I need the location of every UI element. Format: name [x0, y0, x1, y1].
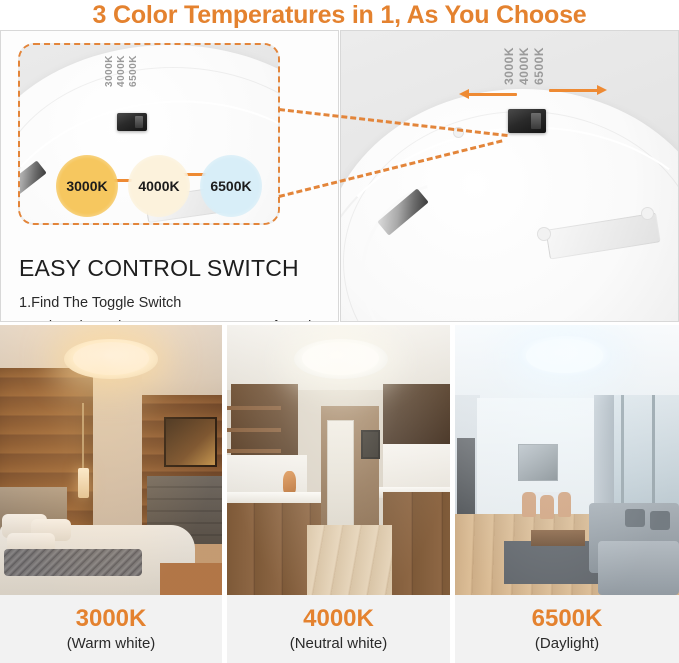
instruction-step-2: 2.Select the Color Temperature you Prefe… [19, 319, 311, 322]
kelvin-value-3000k: 3000K [76, 606, 147, 631]
sofa-cushion-2 [650, 511, 670, 530]
kitchen-island [383, 492, 450, 595]
ceiling-lamp-3000k-diffuser [73, 342, 149, 375]
headline-bar: 3 Color Temperatures in 1, As You Choose [0, 0, 679, 30]
kelvin-description-3000k: (Warm white) [67, 635, 156, 652]
toggle-switch-icon[interactable] [508, 109, 546, 133]
color-temp-circle-6500k: 6500K [200, 155, 262, 217]
color-temp-circle-3000k: 3000K [56, 155, 118, 217]
product-infographic: 3 Color Temperatures in 1, As You Choose [0, 0, 679, 663]
kelvin-labels: 3000K 4000K 6500K [503, 47, 545, 85]
room-photo-bedroom [0, 325, 222, 595]
kelvin-label-3000k: 3000K [503, 47, 515, 85]
bracket-screw-main [537, 227, 551, 241]
window-mullion-2 [652, 395, 655, 519]
window-mullion-1 [621, 395, 624, 519]
bedroom-pendant-shade [78, 468, 89, 498]
living-room-shelving [457, 438, 475, 514]
kitchen-door [327, 420, 354, 530]
dining-chair-1 [522, 492, 535, 516]
room-photo-kitchen [227, 325, 450, 595]
product-switch-panel: 3000K 4000K 6500K [340, 30, 679, 322]
room-scene-6500k: 6500K (Daylight) [455, 325, 679, 663]
kitchen-open-shelf-1 [227, 406, 281, 410]
bedroom-rug [160, 563, 222, 595]
color-temp-circle-6500k-label: 6500K [210, 178, 251, 194]
room-scene-4000k: 4000K (Neutral white) [227, 325, 450, 663]
instruction-step-1: 1.Find The Toggle Switch [19, 295, 181, 311]
living-room-chaise [598, 541, 679, 595]
inset-kelvin-3000k: 3000K [105, 55, 115, 87]
dining-chair-3 [558, 492, 571, 516]
room-scenes-row: 3000K (Warm white) [0, 325, 679, 663]
room-scene-3000k: 3000K (Warm white) [0, 325, 222, 663]
bedroom-throw-blanket [4, 549, 142, 576]
bedroom-pendant-cord [82, 403, 84, 468]
bracket-screw-main-2 [641, 207, 654, 220]
room-photo-living-room [455, 325, 679, 595]
dining-chair-2 [540, 495, 553, 519]
kelvin-value-6500k: 6500K [532, 606, 603, 631]
ceiling-lamp-4000k [294, 339, 388, 380]
kitchen-tile-floor [307, 525, 392, 595]
page-title: 3 Color Temperatures in 1, As You Choose [93, 1, 587, 30]
label-box-4000k: 4000K (Neutral white) [227, 595, 450, 663]
bedroom-scene [0, 325, 222, 595]
kitchen-scene [227, 325, 450, 595]
inset-toggle-switch-icon[interactable] [117, 113, 147, 131]
kitchen-open-shelf-3 [227, 449, 281, 453]
switch-closeup-inset: 3000K 4000K 6500K 3000K 400 [18, 43, 280, 225]
kitchen-wall-art [361, 430, 381, 458]
color-temp-circle-4000k: 4000K [128, 155, 190, 217]
kitchen-open-shelf-2 [227, 428, 281, 432]
color-temp-circle-4000k-label: 4000K [138, 178, 179, 194]
ceiling-lamp-4000k-diffuser [302, 342, 379, 375]
ceiling-lamp-6500k [518, 336, 612, 377]
kelvin-label-4000k: 4000K [518, 47, 530, 85]
kelvin-description-6500k: (Daylight) [535, 635, 599, 652]
living-room-scene [455, 325, 679, 595]
top-row: 3000K 4000K 6500K 3000K 400 [0, 30, 679, 322]
kelvin-description-4000k: (Neutral white) [290, 635, 388, 652]
label-box-6500k: 6500K (Daylight) [455, 595, 679, 663]
easy-control-switch-panel: 3000K 4000K 6500K 3000K 400 [0, 30, 339, 322]
kelvin-label-6500k: 6500K [533, 47, 545, 85]
kelvin-value-4000k: 4000K [303, 606, 374, 631]
kitchen-upper-cabinet [231, 384, 298, 454]
color-temp-circle-3000k-label: 3000K [66, 178, 107, 194]
living-room-coffee-table [531, 530, 585, 546]
kitchen-right-upper-cabinet [383, 384, 450, 443]
bedroom-wall-art [164, 417, 217, 467]
inset-kelvin-4000k: 4000K [117, 55, 127, 87]
ceiling-lamp-3000k [64, 339, 157, 380]
inset-kelvin-6500k: 6500K [129, 55, 139, 87]
living-room-wall-art [518, 444, 558, 481]
easy-control-heading: EASY CONTROL SWITCH [19, 255, 299, 282]
ceiling-lamp-6500k-diffuser [526, 339, 603, 372]
inset-kelvin-labels: 3000K 4000K 6500K [105, 55, 139, 87]
label-box-3000k: 3000K (Warm white) [0, 595, 222, 663]
sofa-cushion-1 [625, 509, 645, 528]
